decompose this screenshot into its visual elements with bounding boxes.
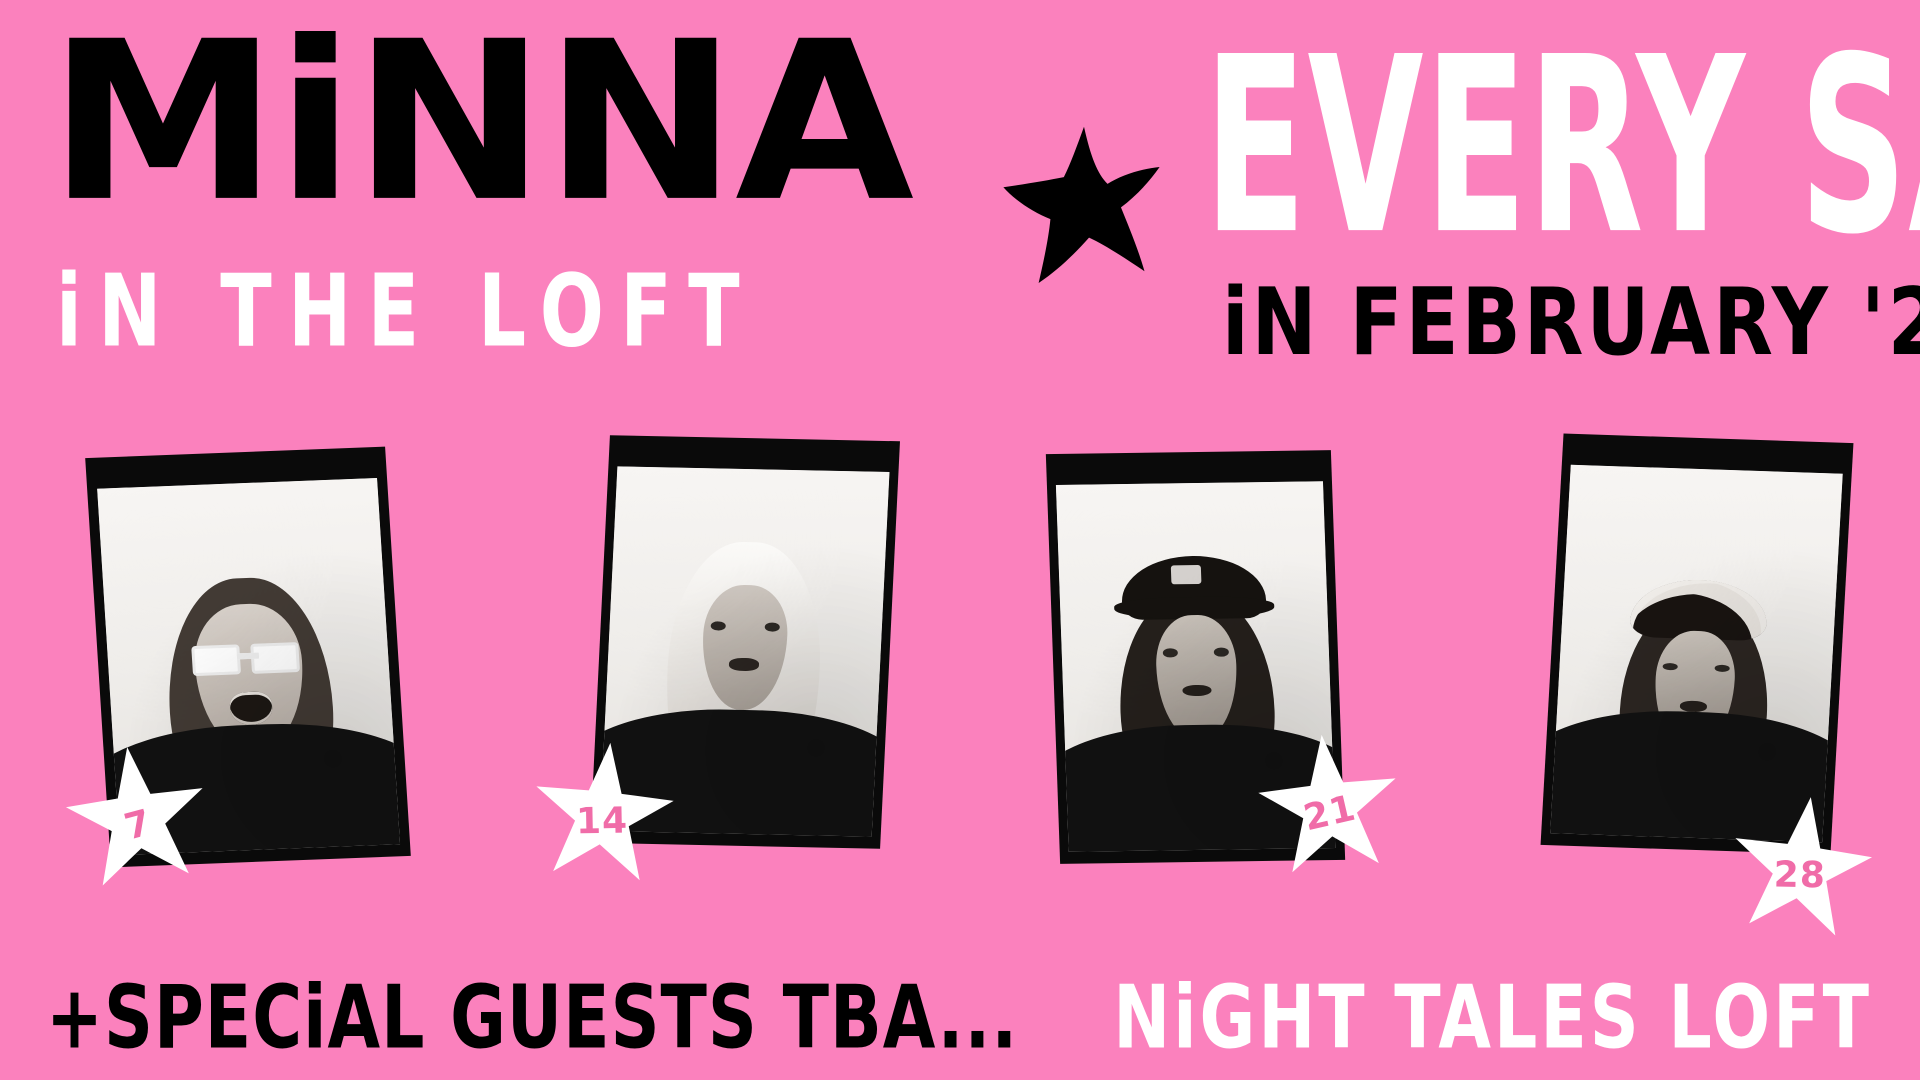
date-badge[interactable]: 28 [1716, 782, 1885, 951]
date-badge[interactable]: 14 [521, 731, 686, 896]
artist-subtitle: iN THE LOFT [56, 262, 756, 362]
star-icon [1000, 120, 1168, 288]
date-badge[interactable]: 7 [52, 732, 221, 901]
poster-canvas: MiNNA iN THE LOFT EVERY SATURDAY iN FEBR… [0, 0, 1920, 1080]
month-label: iN FEBRUARY '26 [1222, 276, 1920, 369]
date-number: 28 [1724, 854, 1875, 898]
photo-image [1550, 465, 1842, 842]
frequency-label: EVERY SATURDAY [1204, 26, 1920, 269]
special-guests-label: +SPECiAL GUESTS TBA... [46, 976, 1018, 1063]
artist-title: MiNNA [48, 22, 912, 224]
date-number: 14 [527, 800, 678, 844]
date-badge[interactable]: 21 [1247, 723, 1412, 888]
venue-label: NiGHT TALES LOFT [1113, 976, 1872, 1063]
